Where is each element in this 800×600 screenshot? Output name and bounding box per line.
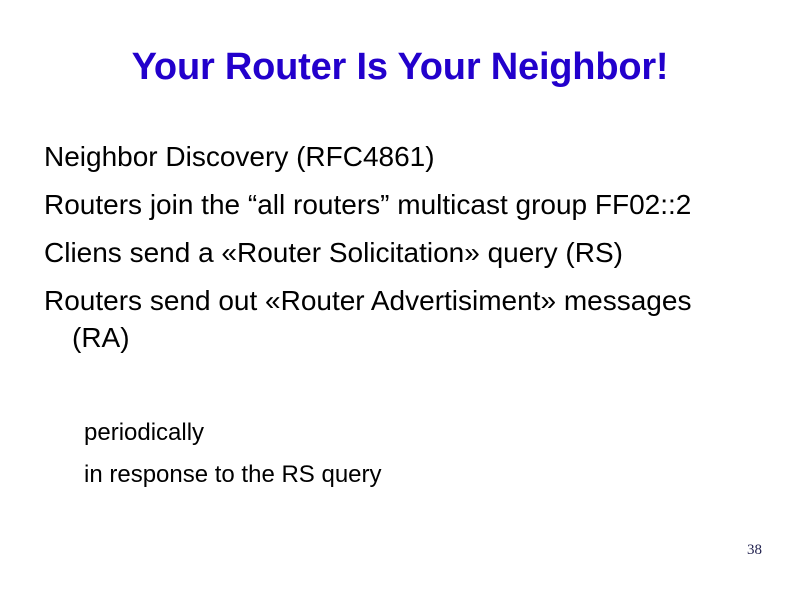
page-number: 38	[700, 542, 762, 559]
slide: Your Router Is Your Neighbor! Neighbor D…	[0, 0, 800, 600]
bullet-list: Neighbor Discovery (RFC4861) Routers joi…	[44, 138, 704, 356]
slide-title: Your Router Is Your Neighbor!	[40, 44, 760, 90]
bullet-item: Cliens send a «Router Solicitation» quer…	[44, 234, 704, 271]
sub-bullet-item: in response to the RS query	[84, 459, 684, 490]
bullet-item: Routers send out «Router Advertisiment» …	[44, 282, 704, 356]
bullet-item: Routers join the “all routers” multicast…	[44, 186, 704, 223]
sub-bullet-item: periodically	[84, 417, 684, 448]
sub-bullet-list: periodically in response to the RS query	[84, 417, 684, 490]
bullet-item: Neighbor Discovery (RFC4861)	[44, 138, 704, 175]
